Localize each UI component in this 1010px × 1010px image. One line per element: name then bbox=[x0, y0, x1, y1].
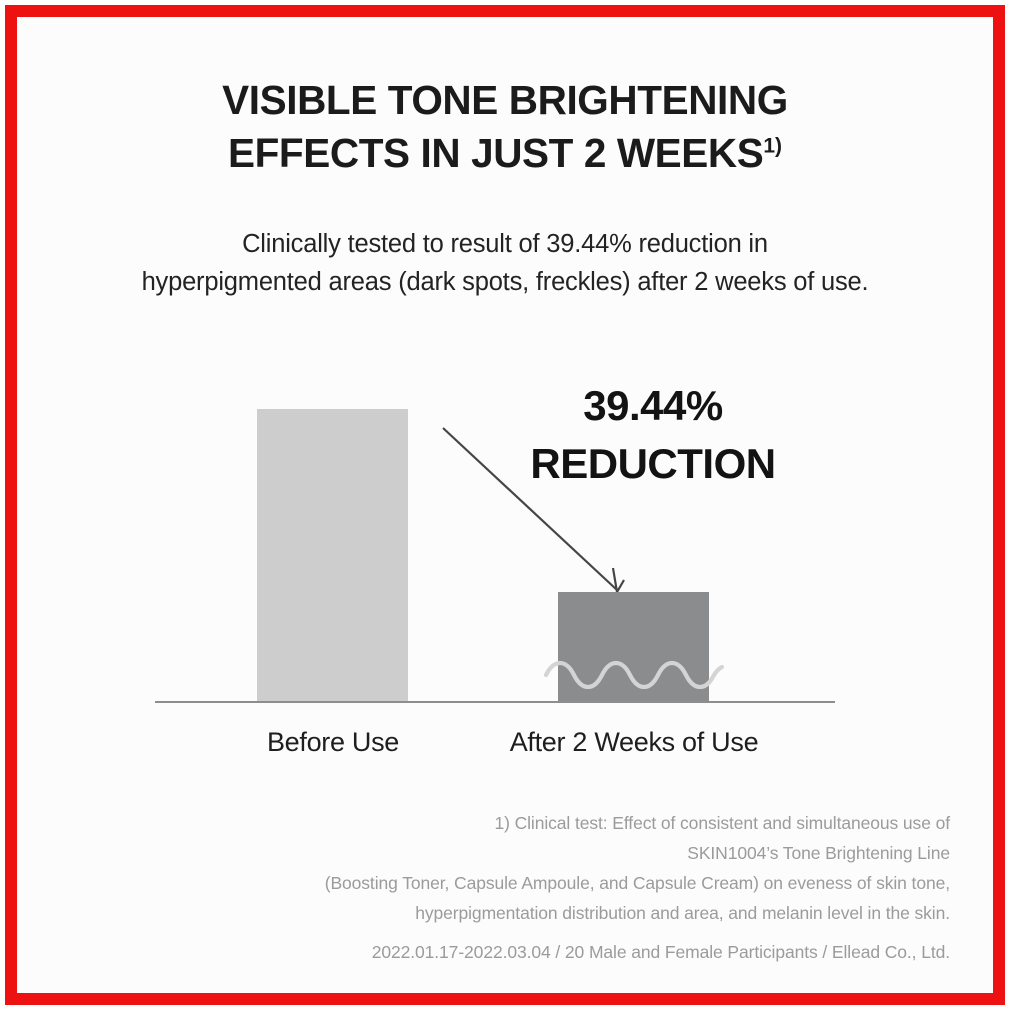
chart-baseline-axis bbox=[155, 701, 835, 703]
infographic-canvas: VISIBLE TONE BRIGHTENING EFFECTS IN JUST… bbox=[0, 0, 1010, 1010]
content-area: VISIBLE TONE BRIGHTENING EFFECTS IN JUST… bbox=[17, 17, 993, 993]
footnote-line-2: SKIN1004’s Tone Brightening Line bbox=[17, 838, 950, 868]
footnote-line-1: 1) Clinical test: Effect of consistent a… bbox=[17, 808, 950, 838]
footnote-block: 1) Clinical test: Effect of consistent a… bbox=[17, 808, 950, 928]
footnote-source: 2022.01.17-2022.03.04 / 20 Male and Fema… bbox=[17, 942, 950, 963]
callout-label: REDUCTION bbox=[468, 435, 838, 493]
callout-percentage: 39.44% bbox=[468, 377, 838, 435]
footnote-line-4: hyperpigmentation distribution and area,… bbox=[17, 898, 950, 928]
axis-label-after-two-weeks: After 2 Weeks of Use bbox=[457, 727, 811, 758]
wave-overlay-icon bbox=[544, 649, 724, 689]
footnote-line-3: (Boosting Toner, Capsule Ampoule, and Ca… bbox=[17, 868, 950, 898]
axis-label-before-use: Before Use bbox=[213, 727, 453, 758]
bar-before-use bbox=[257, 409, 408, 702]
reduction-callout: 39.44% REDUCTION bbox=[468, 377, 838, 493]
